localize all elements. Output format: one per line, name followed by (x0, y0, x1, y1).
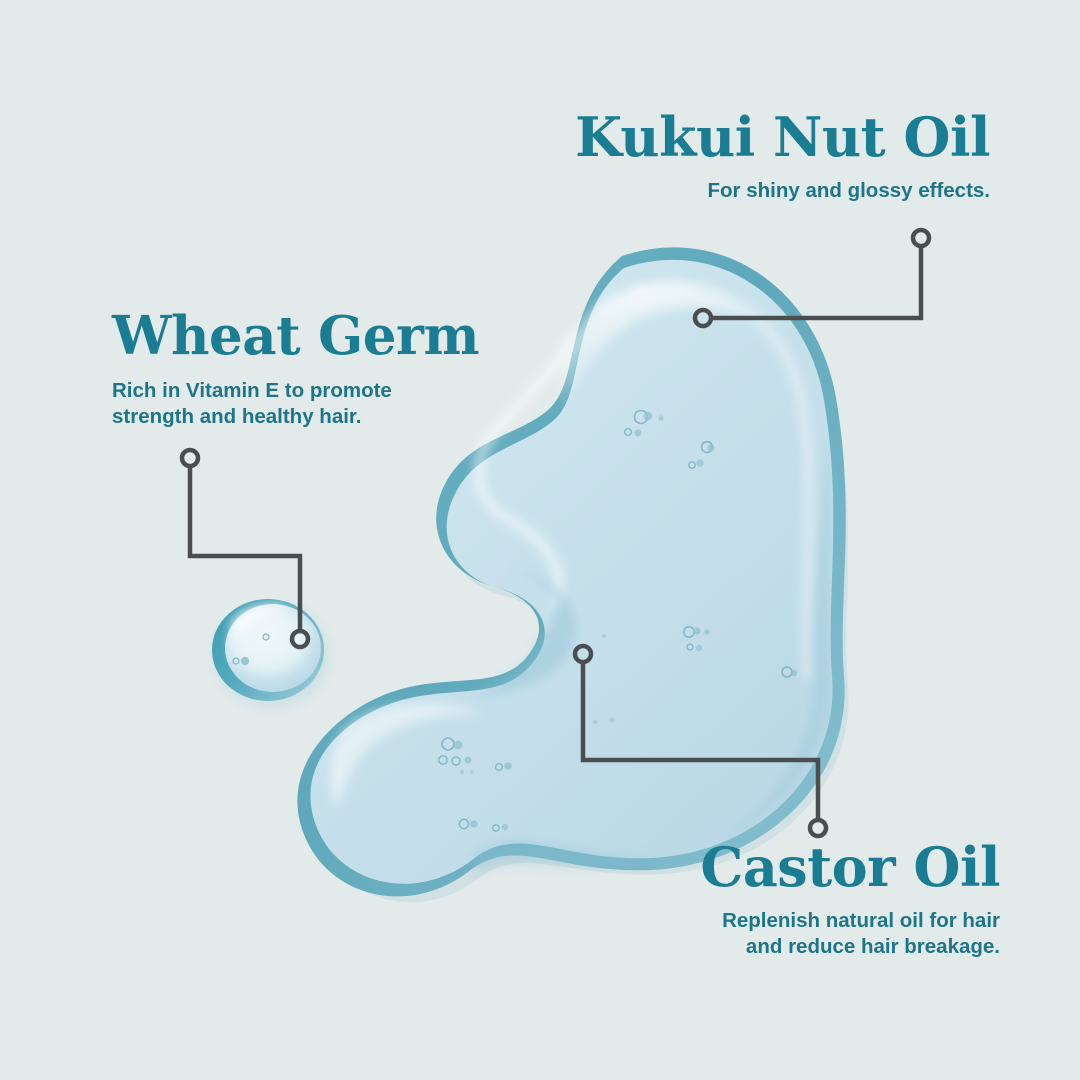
callout-castor-oil: Castor Oil Replenish natural oil for hai… (600, 840, 1000, 960)
callout-kukui-nut-oil: Kukui Nut Oil For shiny and glossy effec… (520, 110, 990, 204)
leader-wheat (182, 450, 308, 647)
callout-subtitle-castor-line2: and reduce hair breakage. (746, 935, 1000, 958)
leader-dot-wheat-end (182, 450, 198, 466)
callout-subtitle-castor-line1: Replenish natural oil for hair (722, 909, 1000, 932)
callout-heading-wheat: Wheat Germ (112, 310, 512, 363)
leader-dot-castor-anchor (575, 646, 591, 662)
callout-subtitle-castor: Replenish natural oil for hair and reduc… (600, 908, 1000, 960)
leader-dot-wheat-anchor (292, 631, 308, 647)
leader-castor (575, 646, 826, 836)
callout-subtitle-wheat-line2: strength and healthy hair. (112, 405, 361, 428)
callout-wheat-germ: Wheat Germ Rich in Vitamin E to promote … (112, 310, 512, 430)
leader-dot-kukui-end (913, 230, 929, 246)
callout-subtitle-wheat: Rich in Vitamin E to promote strength an… (112, 378, 512, 430)
infographic-poster: Kukui Nut Oil For shiny and glossy effec… (0, 0, 1080, 1080)
leader-dot-castor-end (810, 820, 826, 836)
callout-heading-castor: Castor Oil (600, 840, 1000, 894)
callout-subtitle-wheat-line1: Rich in Vitamin E to promote (112, 379, 392, 402)
callout-heading-kukui: Kukui Nut Oil (520, 110, 990, 164)
leader-dot-kukui-anchor (695, 310, 711, 326)
callout-subtitle-kukui: For shiny and glossy effects. (520, 178, 990, 204)
leader-kukui (695, 230, 929, 326)
